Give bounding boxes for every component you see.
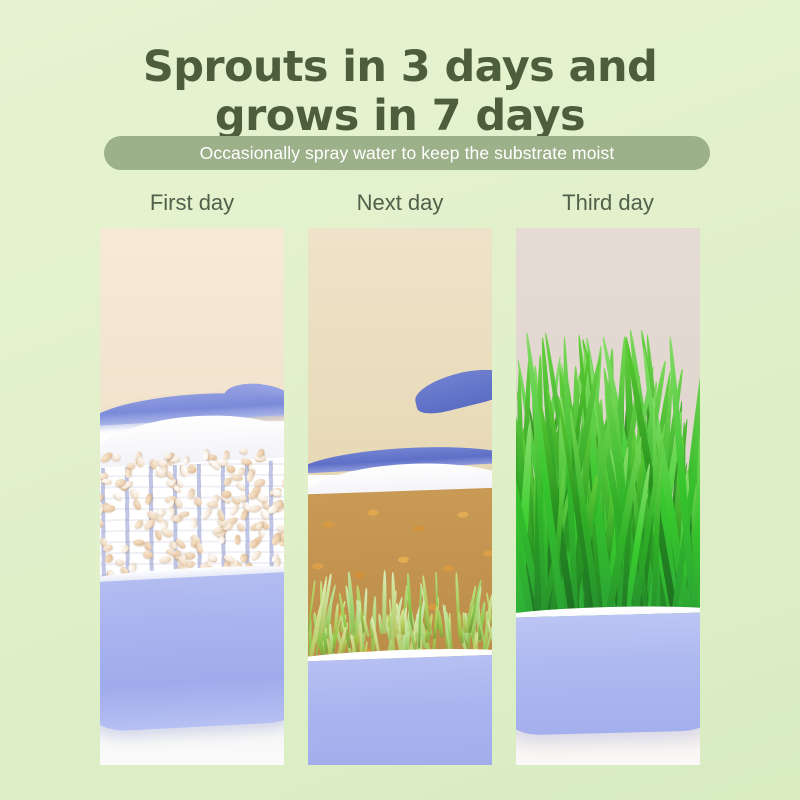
- stage-photo-strip: [100, 228, 700, 765]
- wheat-seed: [276, 524, 284, 532]
- wheat-seed: [245, 468, 255, 482]
- wheat-seed: [235, 535, 241, 545]
- wheat-seed: [189, 519, 197, 529]
- wheat-seed: [240, 553, 249, 563]
- wheat-seed: [281, 475, 284, 488]
- page-title-line-1: Sprouts in 3 days and: [143, 42, 657, 92]
- wheat-seed: [228, 504, 239, 517]
- wheat-seed: [100, 492, 105, 504]
- subtitle-banner-text: Occasionally spray water to keep the sub…: [200, 143, 615, 164]
- wheat-seed: [100, 451, 113, 464]
- wheat-seed: [100, 517, 105, 529]
- page-title-line-2: grows in 7 days: [0, 92, 800, 141]
- wheat-seed: [247, 538, 259, 550]
- wheat-seed: [132, 499, 142, 512]
- backdrop: [308, 228, 492, 475]
- wheat-seed: [203, 449, 209, 460]
- wheat-seed: [120, 543, 130, 554]
- wheat-seed: [114, 492, 124, 502]
- wheat-seed: [144, 493, 153, 505]
- wheat-seed: [142, 518, 156, 531]
- stage-photo-first-day: [100, 228, 284, 765]
- wheat-seed: [193, 496, 203, 507]
- wheat-seed: [103, 552, 114, 564]
- wheat-seed: [174, 497, 185, 509]
- wheat-seed: [144, 541, 152, 551]
- stage-photo-third-day: [516, 228, 700, 765]
- wheat-seed: [226, 465, 236, 474]
- wheat-seed: [133, 539, 144, 546]
- wheat-seed: [201, 507, 213, 520]
- wheat-seed: [103, 505, 115, 512]
- stage-label-next-day: Next day: [308, 190, 492, 224]
- wheat-seed: [272, 489, 282, 497]
- wheat-seed: [124, 467, 130, 478]
- wheat-seed: [102, 478, 112, 484]
- wheat-seed: [222, 490, 233, 498]
- promo-page: Sprouts in 3 days and grows in 7 days Oc…: [0, 0, 800, 800]
- wheat-seed: [223, 451, 229, 460]
- tray-body: [516, 612, 700, 736]
- wheat-seed: [236, 522, 246, 532]
- stage-photo-next-day: [308, 228, 492, 765]
- wheat-seed: [112, 452, 122, 461]
- stage-label-row: First day Next day Third day: [100, 190, 700, 224]
- wheat-seed: [195, 541, 203, 554]
- wheat-seed: [178, 510, 190, 517]
- germinating-seed-bed: [308, 488, 492, 667]
- wheat-seed: [159, 555, 172, 563]
- page-title: Sprouts in 3 days and grows in 7 days: [0, 43, 800, 141]
- wheat-seed: [218, 536, 224, 545]
- subtitle-banner: Occasionally spray water to keep the sub…: [104, 136, 710, 170]
- stage-label-first-day: First day: [100, 190, 284, 224]
- wheat-seed: [133, 519, 144, 530]
- wheat-seed: [239, 447, 248, 455]
- wheat-seed: [136, 456, 146, 468]
- wheat-seed: [250, 549, 262, 561]
- wheat-seed: [127, 462, 135, 468]
- tray-body: [100, 571, 284, 733]
- stage-label-third-day: Third day: [516, 190, 700, 224]
- wheat-seed: [222, 477, 232, 488]
- wheat-seed: [236, 481, 247, 492]
- wheat-seed: [248, 504, 261, 513]
- tray-body: [308, 654, 492, 765]
- wheat-seed: [142, 550, 153, 559]
